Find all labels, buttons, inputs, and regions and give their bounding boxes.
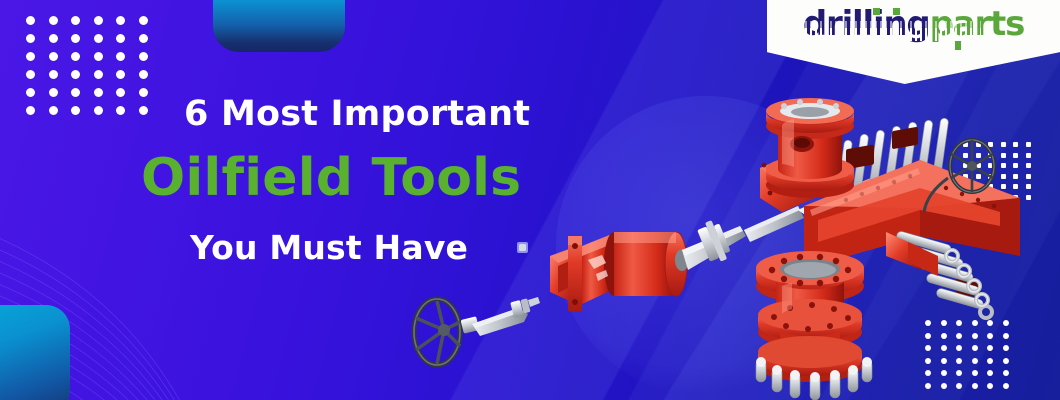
dot: [116, 106, 125, 115]
dot: [139, 16, 148, 25]
dot: [94, 52, 103, 61]
dot: [1026, 142, 1031, 147]
dot: [94, 88, 103, 97]
dot: [49, 52, 58, 61]
dot: [139, 88, 148, 97]
dot: [71, 34, 80, 43]
dot: [94, 70, 103, 79]
valve-stem: [461, 297, 540, 336]
logo-text-parts: parts: [930, 4, 1025, 44]
small-fastener: [517, 242, 528, 253]
dot: [139, 106, 148, 115]
dot: [71, 106, 80, 115]
logo-text-drilling: drilling: [803, 4, 930, 44]
handwheel-icon: [414, 299, 460, 365]
decor-pill-left: [0, 305, 70, 400]
dot: [1026, 153, 1031, 158]
adapter-spool-top: [766, 98, 854, 198]
dot: [116, 34, 125, 43]
dot: [49, 88, 58, 97]
oilfield-equipment-illustration: [400, 60, 1020, 400]
dot: [26, 34, 35, 43]
dot: [71, 52, 80, 61]
dot-grid-top-left: [26, 16, 161, 124]
dot: [49, 34, 58, 43]
dot: [139, 34, 148, 43]
dot: [71, 16, 80, 25]
dot: [49, 16, 58, 25]
dot: [71, 88, 80, 97]
logo-accent-descender: [955, 41, 961, 50]
studded-flange-spool: [756, 251, 872, 400]
dot: [116, 70, 125, 79]
dot: [49, 106, 58, 115]
dot: [139, 70, 148, 79]
dot: [71, 70, 80, 79]
dot: [1026, 195, 1031, 200]
promo-banner: drillingparts 6 Most Important Oilfield …: [0, 0, 1060, 400]
decor-pill-top: [213, 0, 345, 52]
brand-logo[interactable]: drillingparts: [803, 7, 1024, 41]
dot: [26, 70, 35, 79]
dot: [26, 16, 35, 25]
dot: [1026, 163, 1031, 168]
dot: [1026, 184, 1031, 189]
dot: [26, 52, 35, 61]
dot: [116, 88, 125, 97]
logo-accent-square-2: [893, 8, 900, 15]
dot: [139, 52, 148, 61]
dot: [49, 70, 58, 79]
dot: [116, 16, 125, 25]
dot: [94, 16, 103, 25]
dot: [94, 106, 103, 115]
logo-accent-square-1: [873, 8, 880, 15]
dot: [26, 106, 35, 115]
dot: [116, 52, 125, 61]
dot: [94, 34, 103, 43]
dot: [26, 88, 35, 97]
gate-valve-body: [550, 232, 687, 312]
dot: [1026, 174, 1031, 179]
